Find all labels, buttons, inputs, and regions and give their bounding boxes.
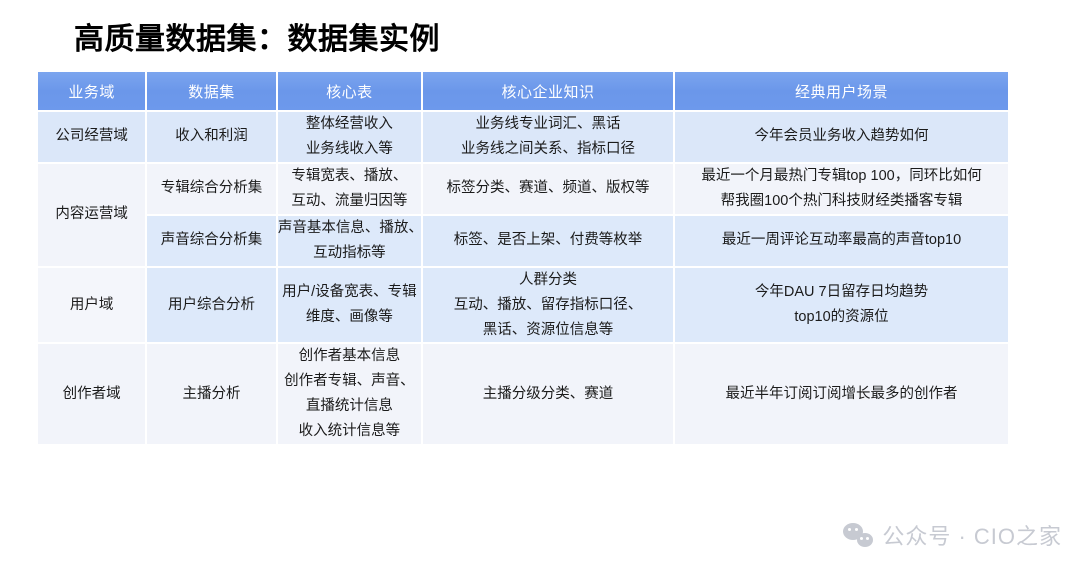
core-table-line: 互动、流量归因等 [278, 189, 421, 214]
cell-enterprise-knowledge: 主播分级分类、赛道 [423, 344, 673, 444]
table-row: 公司经营域 收入和利润 整体经营收入 业务线收入等 业务线专业词汇、黑话 业务线… [38, 112, 1008, 162]
table-body: 公司经营域 收入和利润 整体经营收入 业务线收入等 业务线专业词汇、黑话 业务线… [38, 112, 1008, 444]
dataset-matrix-table: 业务域 数据集 核心表 核心企业知识 经典用户场景 公司经营域 收入和利润 整体… [36, 70, 1010, 446]
cell-dataset: 用户综合分析 [147, 268, 276, 343]
column-header-dataset: 数据集 [147, 72, 276, 110]
cell-enterprise-knowledge: 标签分类、赛道、频道、版权等 [423, 164, 673, 214]
cell-business-domain: 创作者域 [38, 344, 145, 444]
cell-core-tables: 整体经营收入 业务线收入等 [278, 112, 421, 162]
column-header-user-scenarios: 经典用户场景 [675, 72, 1008, 110]
core-table-line: 创作者基本信息 [278, 344, 421, 369]
knowledge-line: 业务线之间关系、指标口径 [423, 137, 673, 162]
core-table-line: 业务线收入等 [278, 137, 421, 162]
core-table-line: 直播统计信息 [278, 394, 421, 419]
core-table-line: 维度、画像等 [278, 305, 421, 330]
table-header: 业务域 数据集 核心表 核心企业知识 经典用户场景 [38, 72, 1008, 110]
scenario-line: top10的资源位 [675, 305, 1008, 330]
cell-user-scenarios: 今年会员业务收入趋势如何 [675, 112, 1008, 162]
cell-business-domain: 公司经营域 [38, 112, 145, 162]
core-table-line: 收入统计信息等 [278, 419, 421, 444]
slide-root: 高质量数据集：数据集实例 业务域 数据集 核心表 核心企业知识 经典用户场景 [0, 0, 1080, 565]
knowledge-line: 标签分类、赛道、频道、版权等 [423, 176, 673, 201]
knowledge-line: 人群分类 [423, 268, 673, 293]
watermark: 公众号 · CIO之家 [843, 519, 1062, 551]
core-table-line: 用户/设备宽表、专辑 [278, 280, 421, 305]
cell-dataset: 专辑综合分析集 [147, 164, 276, 214]
cell-user-scenarios: 最近半年订阅订阅增长最多的创作者 [675, 344, 1008, 444]
cell-core-tables: 用户/设备宽表、专辑 维度、画像等 [278, 268, 421, 343]
wechat-icon [843, 523, 873, 547]
scenario-line: 最近一个月最热门专辑top 100，同环比如何 [675, 164, 1008, 189]
scenario-line: 今年DAU 7日留存日均趋势 [675, 280, 1008, 305]
core-table-line: 互动指标等 [278, 241, 421, 266]
cell-dataset: 主播分析 [147, 344, 276, 444]
core-table-line: 声音基本信息、播放、 [278, 216, 421, 241]
column-header-enterprise-knowledge: 核心企业知识 [423, 72, 673, 110]
scenario-line: 最近半年订阅订阅增长最多的创作者 [675, 382, 1008, 407]
cell-enterprise-knowledge: 标签、是否上架、付费等枚举 [423, 216, 673, 266]
table-row: 声音综合分析集 声音基本信息、播放、 互动指标等 标签、是否上架、付费等枚举 最… [38, 216, 1008, 266]
cell-enterprise-knowledge: 人群分类 互动、播放、留存指标口径、 黑话、资源位信息等 [423, 268, 673, 343]
column-header-business-domain: 业务域 [38, 72, 145, 110]
cell-business-domain: 内容运营域 [38, 164, 145, 266]
cell-core-tables: 创作者基本信息 创作者专辑、声音、 直播统计信息 收入统计信息等 [278, 344, 421, 444]
knowledge-line: 业务线专业词汇、黑话 [423, 112, 673, 137]
cell-core-tables: 专辑宽表、播放、 互动、流量归因等 [278, 164, 421, 214]
cell-user-scenarios: 最近一个月最热门专辑top 100，同环比如何 帮我圈100个热门科技财经类播客… [675, 164, 1008, 214]
table-row: 用户域 用户综合分析 用户/设备宽表、专辑 维度、画像等 人群分类 互动、播放、… [38, 268, 1008, 343]
cell-business-domain: 用户域 [38, 268, 145, 343]
table-row: 创作者域 主播分析 创作者基本信息 创作者专辑、声音、 直播统计信息 收入统计信… [38, 344, 1008, 444]
core-table-line: 创作者专辑、声音、 [278, 369, 421, 394]
watermark-text: 公众号 · CIO之家 [882, 519, 1062, 551]
knowledge-line: 标签、是否上架、付费等枚举 [423, 228, 673, 253]
table-row: 内容运营域 专辑综合分析集 专辑宽表、播放、 互动、流量归因等 标签分类、赛道、… [38, 164, 1008, 214]
knowledge-line: 互动、播放、留存指标口径、 [423, 293, 673, 318]
cell-enterprise-knowledge: 业务线专业词汇、黑话 业务线之间关系、指标口径 [423, 112, 673, 162]
cell-user-scenarios: 最近一周评论互动率最高的声音top10 [675, 216, 1008, 266]
core-table-line: 整体经营收入 [278, 112, 421, 137]
column-header-core-tables: 核心表 [278, 72, 421, 110]
knowledge-line: 黑话、资源位信息等 [423, 318, 673, 343]
core-table-line: 专辑宽表、播放、 [278, 164, 421, 189]
knowledge-line: 主播分级分类、赛道 [423, 382, 673, 407]
table-header-row: 业务域 数据集 核心表 核心企业知识 经典用户场景 [38, 72, 1008, 110]
scenario-line: 最近一周评论互动率最高的声音top10 [675, 228, 1008, 253]
page-title: 高质量数据集：数据集实例 [74, 14, 440, 58]
dataset-matrix-table-wrapper: 业务域 数据集 核心表 核心企业知识 经典用户场景 公司经营域 收入和利润 整体… [36, 70, 1010, 446]
scenario-line: 帮我圈100个热门科技财经类播客专辑 [675, 189, 1008, 214]
cell-dataset: 声音综合分析集 [147, 216, 276, 266]
scenario-line: 今年会员业务收入趋势如何 [675, 124, 1008, 149]
cell-user-scenarios: 今年DAU 7日留存日均趋势 top10的资源位 [675, 268, 1008, 343]
cell-dataset: 收入和利润 [147, 112, 276, 162]
cell-core-tables: 声音基本信息、播放、 互动指标等 [278, 216, 421, 266]
